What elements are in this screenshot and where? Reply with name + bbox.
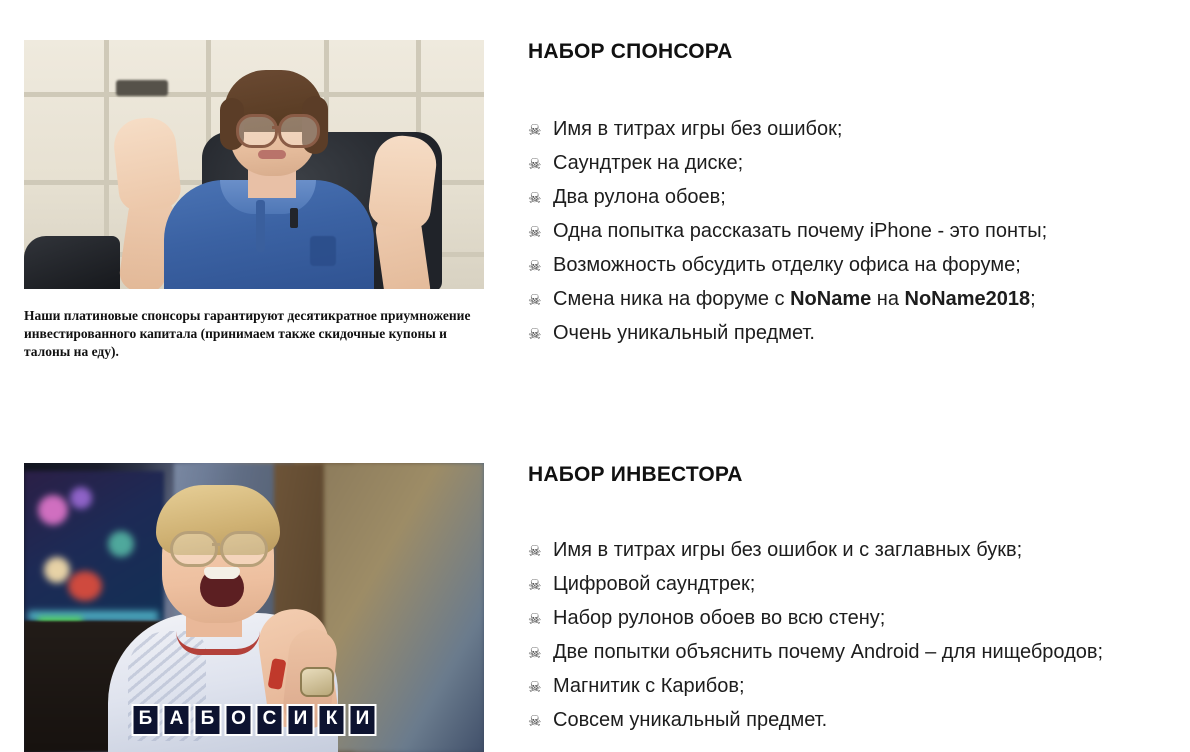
monitor-blur-spot	[108, 531, 134, 557]
monitor-blur-spot	[70, 487, 92, 509]
skull-and-crossbones-icon: ☠	[528, 569, 548, 602]
monitor-blur-spot	[44, 557, 70, 583]
red-necklace	[176, 631, 260, 655]
subtitle-letter: О	[225, 704, 253, 736]
shelf-line	[104, 40, 109, 252]
list-item-label: Саундтрек на диске;	[553, 147, 743, 180]
monitor-blur-spot	[38, 495, 68, 525]
list-item-label: Два рулона обоев;	[553, 181, 726, 214]
skull-and-crossbones-icon: ☠	[528, 318, 548, 351]
sponsor-section-title: НАБОР СПОНСОРА	[528, 40, 1168, 64]
list-item: ☠ Имя в титрах игры без ошибок;	[528, 113, 1168, 147]
subtitle-letter: Б	[194, 704, 222, 736]
list-item-label: Магнитик с Карибов;	[553, 670, 745, 703]
investor-section-title: НАБОР ИНВЕСТОРА	[528, 463, 1168, 487]
eyeglass-bridge	[212, 543, 220, 546]
wristwatch	[300, 667, 334, 697]
subtitle-letter: А	[163, 704, 191, 736]
eyeglass-lens	[278, 114, 320, 148]
page-root: Наши платиновые спонсоры гарантируют дес…	[0, 0, 1190, 752]
skull-and-crossbones-icon: ☠	[528, 535, 548, 568]
sponsor-perk-list: ☠ Имя в титрах игры без ошибок; ☠ Саундт…	[528, 113, 1168, 351]
list-item-label: Имя в титрах игры без ошибок;	[553, 113, 842, 146]
mouth	[258, 150, 286, 159]
sponsor-photo	[24, 40, 484, 289]
list-item: ☠ Магнитик с Карибов;	[528, 670, 1168, 704]
skull-and-crossbones-icon: ☠	[528, 216, 548, 249]
list-item-label: Набор рулонов обоев во всю стену;	[553, 602, 885, 635]
list-item: ☠ Смена ника на форуме с NoName на NoNam…	[528, 283, 1168, 317]
subtitle-letter: С	[256, 704, 284, 736]
list-item: ☠ Саундтрек на диске;	[528, 147, 1168, 181]
sponsor-media-column: Наши платиновые спонсоры гарантируют дес…	[24, 40, 484, 375]
skull-and-crossbones-icon: ☠	[528, 637, 548, 670]
list-item: ☠ Имя в титрах игры без ошибок и с загла…	[528, 534, 1168, 568]
list-item-label: Имя в титрах игры без ошибок и с заглавн…	[553, 534, 1022, 567]
list-item-label: Цифровой саундтрек;	[553, 568, 755, 601]
list-item-label: Две попытки объяснить почему Android – д…	[553, 636, 1103, 669]
subtitle-letter: И	[349, 704, 377, 736]
list-item: ☠ Очень уникальный предмет.	[528, 317, 1168, 351]
list-item: ☠ Совсем уникальный предмет.	[528, 704, 1168, 738]
list-item-label: Смена ника на форуме с NoName на NoName2…	[553, 283, 1036, 316]
subtitle-letter: И	[287, 704, 315, 736]
skull-and-crossbones-icon: ☠	[528, 284, 548, 317]
eyeglass-bridge	[272, 126, 280, 129]
list-item-label: Очень уникальный предмет.	[553, 317, 815, 350]
skull-and-crossbones-icon: ☠	[528, 182, 548, 215]
office-chair-armrest	[24, 236, 120, 289]
eyeglass-lens	[170, 531, 218, 567]
list-item: ☠ Набор рулонов обоев во всю стену;	[528, 602, 1168, 636]
list-item: ☠ Одна попытка рассказать почему iPhone …	[528, 215, 1168, 249]
list-item: ☠ Две попытки объяснить почему Android –…	[528, 636, 1168, 670]
list-item-label: Совсем уникальный предмет.	[553, 704, 827, 737]
monitor-blur-spot	[68, 571, 102, 601]
list-item: ☠ Два рулона обоев;	[528, 181, 1168, 215]
subtitle-letter: К	[318, 704, 346, 736]
eyeglass-lens	[236, 114, 278, 148]
list-item-label: Одна попытка рассказать почему iPhone - …	[553, 215, 1047, 248]
investor-perk-list: ☠ Имя в титрах игры без ошибок и с загла…	[528, 534, 1168, 738]
sponsor-image-caption: Наши платиновые спонсоры гарантируют дес…	[24, 307, 476, 361]
investor-media-column: Б А Б О С И К И	[24, 463, 484, 752]
polo-placket	[256, 200, 265, 252]
shelf-object	[116, 80, 168, 96]
sponsor-text-column: НАБОР СПОНСОРА ☠ Имя в титрах игры без о…	[528, 40, 1168, 351]
list-item: ☠ Возможность обсудить отделку офиса на …	[528, 249, 1168, 283]
skull-and-crossbones-icon: ☠	[528, 250, 548, 283]
eyeglass-lens	[220, 531, 268, 567]
teeth	[204, 567, 240, 579]
investor-text-column: НАБОР ИНВЕСТОРА ☠ Имя в титрах игры без …	[528, 463, 1168, 738]
studio-monitor	[24, 471, 164, 621]
lapel-microphone	[290, 208, 298, 228]
polo-logo	[310, 236, 336, 266]
list-item-label: Возможность обсудить отделку офиса на фо…	[553, 249, 1021, 282]
skull-and-crossbones-icon: ☠	[528, 671, 548, 704]
skull-and-crossbones-icon: ☠	[528, 603, 548, 636]
skull-and-crossbones-icon: ☠	[528, 114, 548, 147]
list-item: ☠ Цифровой саундтрек;	[528, 568, 1168, 602]
investor-photo: Б А Б О С И К И	[24, 463, 484, 752]
subtitle-letter: Б	[132, 704, 160, 736]
subtitle-letter-board: Б А Б О С И К И	[132, 704, 377, 736]
skull-and-crossbones-icon: ☠	[528, 148, 548, 181]
skull-and-crossbones-icon: ☠	[528, 705, 548, 738]
